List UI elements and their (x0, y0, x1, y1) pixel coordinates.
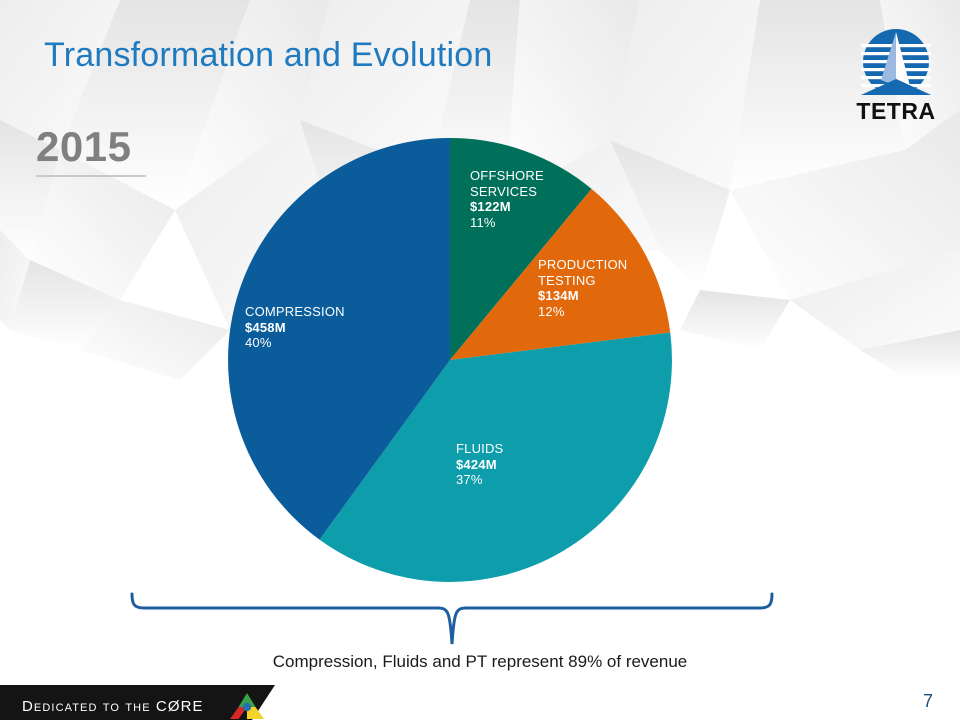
tetra-logo-mark (861, 29, 931, 95)
page-number: 7 (923, 691, 933, 712)
chart-caption: Compression, Fluids and PT represent 89%… (0, 652, 960, 672)
pie-label-fluids-value: $424M (456, 457, 503, 473)
pie-label-production-testing-percent: 12% (538, 304, 627, 320)
pie-label-offshore-services-value: $122M (470, 199, 544, 215)
year-block: 2015 (36, 125, 186, 177)
slide-canvas: Transformation and Evolution 2015 TETRA (0, 0, 960, 720)
pie-label-offshore-services-percent: 11% (470, 215, 544, 231)
core-triangle-icon (230, 692, 264, 720)
pie-label-fluids-line1: FLUIDS (456, 441, 503, 457)
revenue-pie-chart (228, 138, 672, 582)
pie-label-offshore-services: OFFSHORE SERVICES $122M 11% (470, 168, 544, 230)
tetra-logo: TETRA (845, 24, 947, 124)
pie-label-production-testing-value: $134M (538, 288, 627, 304)
pie-svg (228, 138, 672, 582)
curly-brace (128, 592, 776, 648)
pie-label-compression-value: $458M (245, 320, 345, 336)
pie-label-fluids: FLUIDS $424M 37% (456, 441, 503, 488)
pie-label-offshore-services-line1: OFFSHORE (470, 168, 544, 184)
pie-label-offshore-services-line2: SERVICES (470, 184, 544, 200)
pie-label-production-testing: PRODUCTION TESTING $134M 12% (538, 257, 627, 319)
pie-label-production-testing-line1: PRODUCTION (538, 257, 627, 273)
pie-label-compression-percent: 40% (245, 335, 345, 351)
tetra-wordmark: TETRA (856, 98, 935, 124)
pie-label-compression-line1: COMPRESSION (245, 304, 345, 320)
pie-label-production-testing-line2: TESTING (538, 273, 627, 289)
footer-tagline: Dedicated to the CØRE (22, 698, 204, 715)
pie-label-compression: COMPRESSION $458M 40% (245, 304, 345, 351)
year-underline-rule (36, 175, 146, 177)
year-label: 2015 (36, 125, 186, 169)
page-title: Transformation and Evolution (44, 36, 492, 75)
pie-label-fluids-percent: 37% (456, 472, 503, 488)
